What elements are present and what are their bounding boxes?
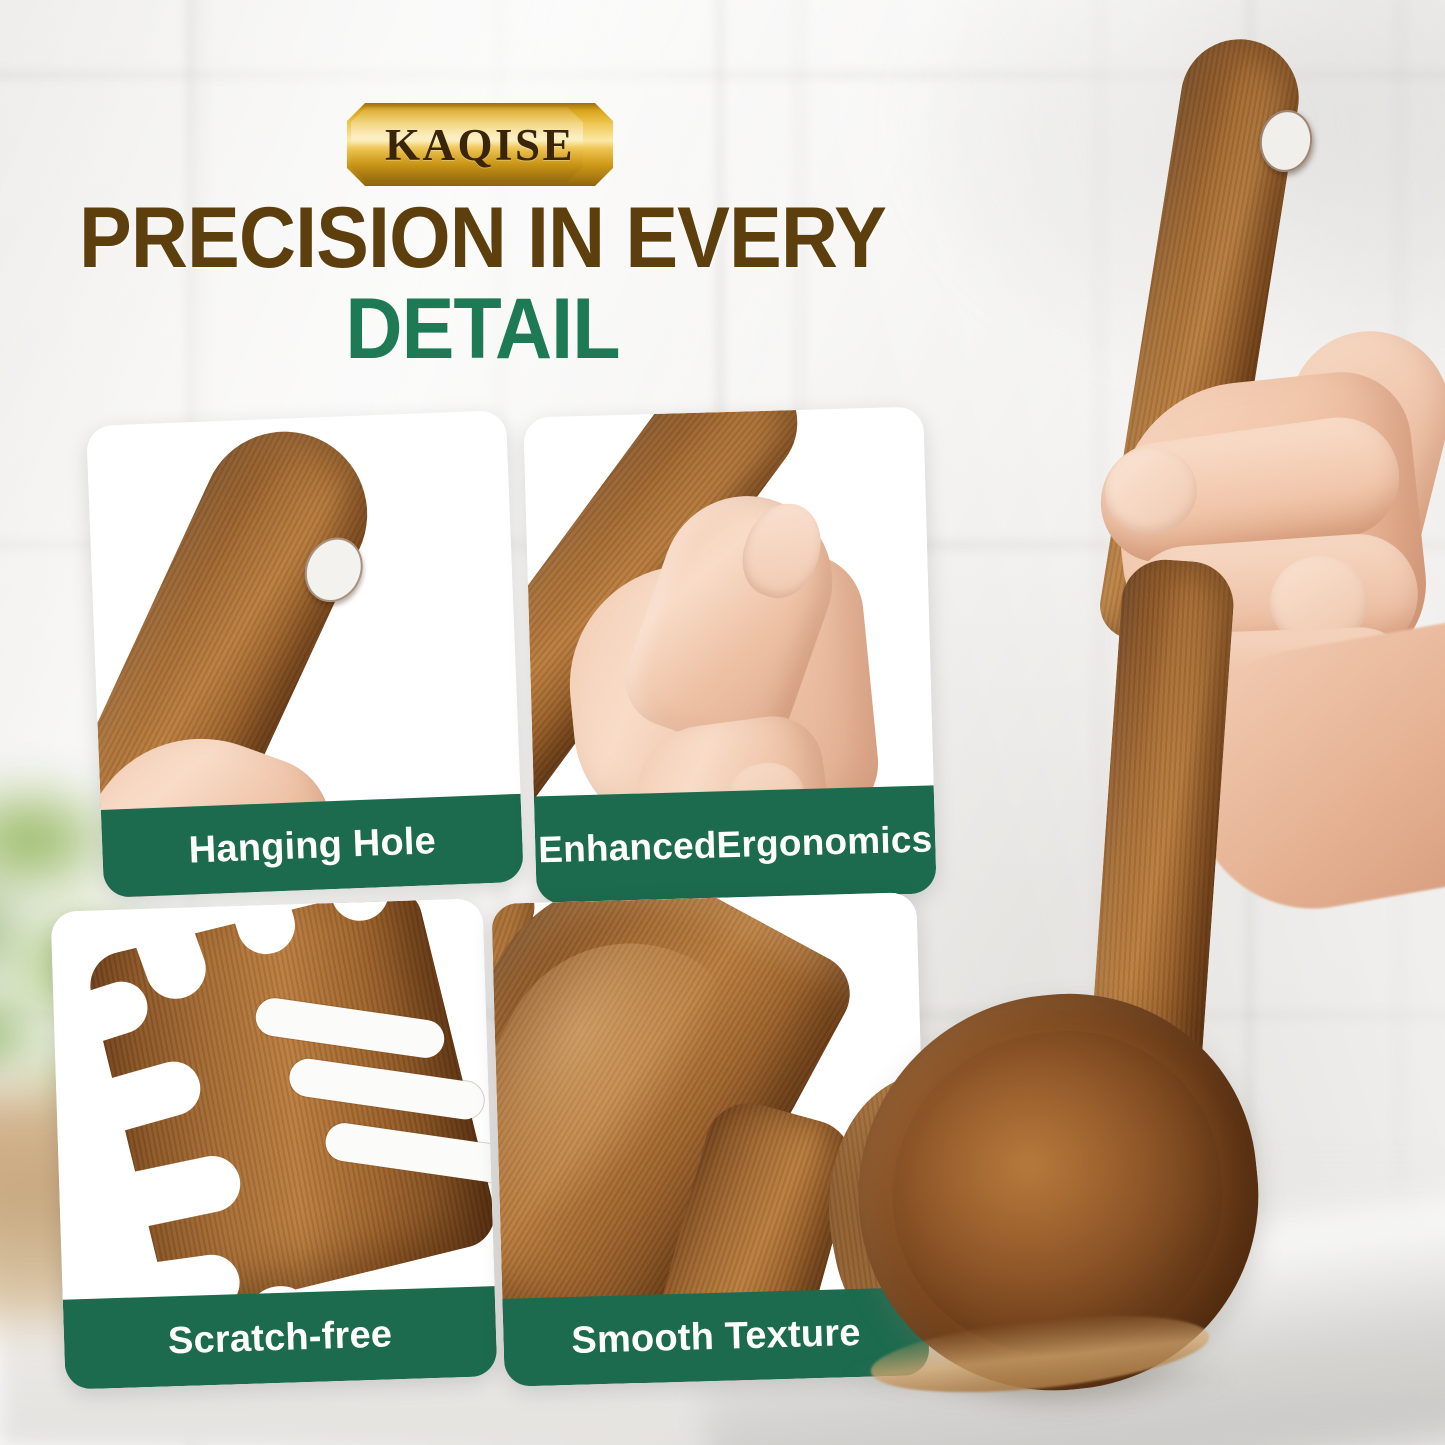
brand-name: KAQISE [385,119,575,171]
feature-card-hanging-hole[interactable]: Hanging Hole [86,410,524,898]
product-feature-graphic: KAQISE PRECISION IN EVERY DETAIL Hanging… [0,0,1445,1445]
feature-caption-hanging-hole: Hanging Hole [101,794,524,898]
hero-product-image [760,0,1445,1445]
caption-line-1: Enhanced [538,825,718,871]
feature-caption-scratch-free: Scratch-free [63,1286,498,1390]
feature-card-scratch-free[interactable]: Scratch-free [51,898,498,1389]
brand-badge: KAQISE [347,103,613,186]
